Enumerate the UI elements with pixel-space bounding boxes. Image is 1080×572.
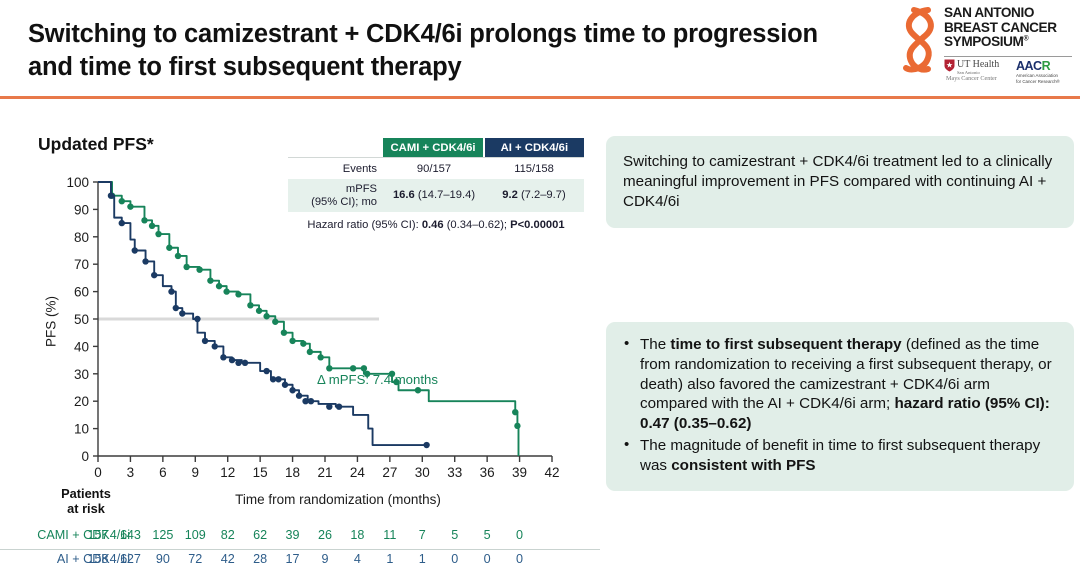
risk-value: 0 — [505, 552, 535, 566]
x-tick-label: 21 — [317, 465, 332, 480]
risk-value: 62 — [245, 528, 275, 542]
risk-value: 17 — [278, 552, 308, 566]
aacr-logo: AACR American Association for Cancer Res… — [1016, 59, 1074, 84]
risk-value: 0 — [505, 528, 535, 542]
censor-marker — [216, 283, 222, 289]
risk-value: 7 — [407, 528, 437, 542]
censor-marker — [183, 264, 189, 270]
censor-marker — [361, 365, 367, 371]
censor-marker — [194, 316, 200, 322]
risk-title-line-1: Patients — [40, 486, 132, 501]
mays-cancer-center-label: Mays Cancer Center — [946, 75, 1010, 82]
censor-marker — [149, 223, 155, 229]
ut-health-label: UT Health — [957, 59, 1010, 70]
logo-line-1: SAN ANTONIO — [944, 6, 1074, 21]
censor-marker — [196, 266, 202, 272]
y-tick-label: 90 — [74, 202, 89, 217]
censor-marker — [514, 423, 520, 429]
risk-value: 1 — [407, 552, 437, 566]
censor-marker — [317, 354, 323, 360]
callout-bullets: The time to first subsequent therapy (de… — [606, 322, 1074, 491]
logo-line-2: BREAST CANCER — [944, 21, 1074, 36]
censor-marker — [308, 398, 314, 404]
ut-shield-icon — [944, 59, 955, 72]
km-plot: 0102030405060708090100036912151821242730… — [18, 174, 584, 504]
censor-marker — [141, 217, 147, 223]
censor-marker — [207, 277, 213, 283]
stats-col-header-cami: CAMI + CDK4/6i — [383, 138, 482, 157]
censor-marker — [300, 340, 306, 346]
x-tick-label: 39 — [512, 465, 527, 480]
commentary-panel: Switching to camizestrant + CDK4/6i trea… — [606, 104, 1080, 566]
censor-marker — [263, 368, 269, 374]
censor-marker — [423, 442, 429, 448]
y-tick-label: 50 — [74, 312, 89, 327]
risk-value: 109 — [180, 528, 210, 542]
censor-marker — [212, 343, 218, 349]
bullet-list: The time to first subsequent therapy (de… — [618, 335, 1059, 475]
censor-marker — [155, 231, 161, 237]
sabcs-ribbon-icon — [898, 6, 944, 74]
censor-marker — [350, 365, 356, 371]
slide-header: Switching to camizestrant + CDK4/6i prol… — [0, 0, 1080, 96]
censor-marker — [173, 305, 179, 311]
censor-marker — [235, 360, 241, 366]
bullet-item: The magnitude of benefit in time to firs… — [618, 436, 1059, 476]
censor-marker — [415, 387, 421, 393]
risk-value: 72 — [180, 552, 210, 566]
sabcs-wordmark: SAN ANTONIO BREAST CANCER SYMPOSIUM® — [944, 6, 1074, 50]
censor-marker — [512, 409, 518, 415]
censor-marker — [108, 193, 114, 199]
x-tick-label: 27 — [382, 465, 397, 480]
censor-marker — [235, 291, 241, 297]
censor-marker — [296, 393, 302, 399]
censor-marker — [326, 403, 332, 409]
risk-value: 125 — [148, 528, 178, 542]
y-tick-label: 100 — [66, 175, 89, 190]
censor-marker — [275, 376, 281, 382]
pfs-chart-panel: Updated PFS* CAMI + CDK4/6i AI + CDK4/6i… — [0, 104, 600, 566]
censor-marker — [307, 349, 313, 355]
censor-marker — [282, 382, 288, 388]
y-tick-label: 0 — [81, 449, 89, 464]
stats-table-header-row: CAMI + CDK4/6i AI + CDK4/6i — [288, 138, 584, 157]
risk-value: 0 — [472, 552, 502, 566]
x-tick-label: 0 — [94, 465, 102, 480]
censor-marker — [281, 330, 287, 336]
y-tick-label: 20 — [74, 394, 89, 409]
risk-value: 82 — [213, 528, 243, 542]
risk-value: 0 — [440, 552, 470, 566]
censor-marker — [119, 198, 125, 204]
bullet-0-segment-1: time to first subsequent therapy — [670, 336, 901, 353]
aacr-sub-line-2: for Cancer Research® — [1016, 79, 1074, 85]
y-tick-label: 30 — [74, 367, 89, 382]
risk-value: 4 — [342, 552, 372, 566]
censor-marker — [132, 247, 138, 253]
x-tick-label: 42 — [544, 465, 559, 480]
y-tick-label: 40 — [74, 339, 89, 354]
censor-marker — [179, 310, 185, 316]
risk-value: 5 — [472, 528, 502, 542]
bullet-item: The time to first subsequent therapy (de… — [618, 335, 1059, 434]
risk-row-cami: CAMI + CDK4/6i 1571431251098262392618117… — [0, 526, 600, 549]
risk-value: 143 — [115, 528, 145, 542]
risk-value: 42 — [213, 552, 243, 566]
censor-marker — [263, 313, 269, 319]
censor-marker — [223, 288, 229, 294]
aacr-r-glyph: R — [1042, 59, 1051, 73]
stats-header-blank — [288, 138, 383, 157]
risk-value: 11 — [375, 528, 405, 542]
x-tick-label: 9 — [192, 465, 200, 480]
ut-health-logo: UT Health San Antonio Mays Cancer Center — [944, 59, 1010, 82]
censor-marker — [229, 357, 235, 363]
censor-marker — [247, 302, 253, 308]
y-tick-label: 80 — [74, 230, 89, 245]
patients-at-risk-title: Patients at risk — [40, 486, 132, 516]
risk-value: 158 — [83, 552, 113, 566]
censor-marker — [127, 203, 133, 209]
logo-divider — [944, 56, 1072, 57]
bullet-0-segment-0: The — [640, 336, 670, 353]
delta-mpfs-annotation: Δ mPFS: 7.4 months — [317, 372, 438, 387]
page-title: Switching to camizestrant + CDK4/6i prol… — [28, 18, 828, 84]
logo-line-3: SYMPOSIUM® — [944, 35, 1074, 50]
km-svg-canvas: 0102030405060708090100036912151821242730… — [18, 174, 584, 486]
censor-marker — [326, 365, 332, 371]
censor-marker — [289, 338, 295, 344]
x-tick-label: 3 — [127, 465, 135, 480]
censor-marker — [272, 319, 278, 325]
stats-col-header-ai: AI + CDK4/6i — [485, 138, 584, 157]
risk-value: 157 — [83, 528, 113, 542]
censor-marker — [202, 338, 208, 344]
censor-marker — [142, 258, 148, 264]
callout-summary: Switching to camizestrant + CDK4/6i trea… — [606, 136, 1074, 228]
x-axis-label: Time from randomization (months) — [138, 492, 538, 507]
x-tick-label: 30 — [415, 465, 430, 480]
risk-value: 26 — [310, 528, 340, 542]
censor-marker — [220, 354, 226, 360]
y-tick-label: 70 — [74, 257, 89, 272]
aacr-label: AAC — [1016, 59, 1042, 73]
censor-marker — [168, 288, 174, 294]
x-tick-label: 12 — [220, 465, 235, 480]
x-tick-label: 18 — [285, 465, 300, 480]
x-tick-label: 33 — [447, 465, 462, 480]
x-tick-label: 36 — [480, 465, 495, 480]
header-divider — [0, 96, 1080, 99]
x-tick-label: 6 — [159, 465, 167, 480]
censor-marker — [119, 220, 125, 226]
censor-marker — [256, 308, 262, 314]
risk-value: 18 — [342, 528, 372, 542]
censor-marker — [175, 253, 181, 259]
risk-value: 5 — [440, 528, 470, 542]
risk-value: 28 — [245, 552, 275, 566]
risk-row-ai: AI + CDK4/6i 15812790724228179411000 — [0, 549, 600, 572]
risk-value: 1 — [375, 552, 405, 566]
x-tick-label: 15 — [253, 465, 268, 480]
risk-value: 90 — [148, 552, 178, 566]
risk-title-line-2: at risk — [40, 501, 132, 516]
y-tick-label: 10 — [74, 422, 89, 437]
section-label: Updated PFS* — [38, 134, 154, 155]
censor-marker — [336, 403, 342, 409]
censor-marker — [289, 387, 295, 393]
risk-value: 9 — [310, 552, 340, 566]
censor-marker — [166, 245, 172, 251]
y-tick-label: 60 — [74, 285, 89, 300]
risk-value: 127 — [115, 552, 145, 566]
y-axis-label: PFS (%) — [44, 267, 59, 377]
bullet-1-segment-1: consistent with PFS — [671, 457, 815, 474]
censor-marker — [151, 272, 157, 278]
censor-marker — [242, 360, 248, 366]
risk-value: 39 — [278, 528, 308, 542]
sabcs-logo: SAN ANTONIO BREAST CANCER SYMPOSIUM® UT … — [898, 4, 1074, 90]
x-tick-label: 24 — [350, 465, 366, 480]
